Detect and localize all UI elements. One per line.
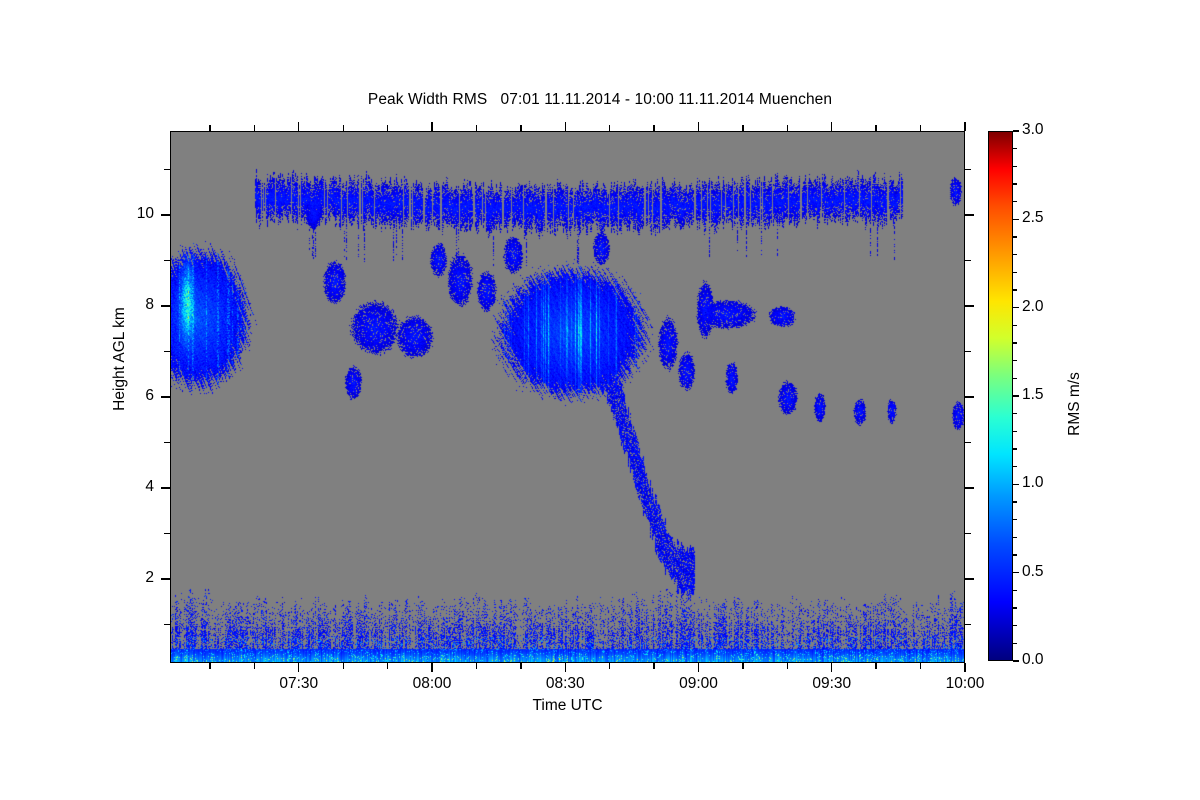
- x-tick-label: 08:00: [382, 675, 482, 693]
- y-axis-tick: [164, 351, 170, 352]
- x-axis-tick: [565, 122, 566, 131]
- x-axis-tick: [209, 663, 210, 669]
- x-axis-tick: [387, 663, 388, 669]
- x-axis-tick: [609, 663, 610, 669]
- y-axis-tick: [161, 305, 170, 306]
- x-axis-tick: [875, 663, 876, 669]
- x-axis-tick: [298, 663, 299, 672]
- y-axis-tick: [965, 169, 971, 170]
- x-tick-label: 07:30: [249, 675, 349, 693]
- x-tick-label: 09:30: [782, 675, 882, 693]
- colorbar-minor-tick: [1013, 448, 1017, 449]
- x-axis-tick: [742, 663, 743, 669]
- x-axis-tick: [343, 663, 344, 669]
- colorbar-tick: [1013, 572, 1019, 573]
- y-axis-tick: [164, 169, 170, 170]
- heatmap-plot-area[interactable]: [170, 131, 965, 663]
- colorbar-tick: [1013, 660, 1019, 661]
- page-title: Peak Width RMS 07:01 11.11.2014 - 10:00 …: [0, 91, 1200, 109]
- x-axis-tick: [431, 122, 432, 131]
- y-axis-tick: [965, 487, 974, 488]
- y-axis-tick: [164, 442, 170, 443]
- colorbar-tick-label: 1.0: [1022, 474, 1044, 492]
- colorbar-tick-label: 2.5: [1022, 209, 1044, 227]
- colorbar-minor-tick: [1013, 607, 1017, 608]
- x-axis-tick: [653, 663, 654, 669]
- y-tick-label: 2: [74, 569, 154, 587]
- y-axis-tick: [161, 214, 170, 215]
- figure-canvas: Peak Width RMS 07:01 11.11.2014 - 10:00 …: [0, 0, 1200, 800]
- colorbar-minor-tick: [1013, 183, 1017, 184]
- y-axis-tick: [965, 624, 971, 625]
- x-tick-label: 10:00: [915, 675, 1015, 693]
- colorbar[interactable]: [988, 131, 1013, 661]
- x-axis-tick: [831, 122, 832, 131]
- colorbar-minor-tick: [1013, 236, 1017, 237]
- x-axis-tick: [653, 125, 654, 131]
- colorbar-minor-tick: [1013, 537, 1017, 538]
- x-axis-tick: [209, 125, 210, 131]
- colorbar-minor-tick: [1013, 289, 1017, 290]
- colorbar-minor-tick: [1013, 643, 1017, 644]
- colorbar-minor-tick: [1013, 378, 1017, 379]
- x-axis-tick: [698, 663, 699, 672]
- x-axis-tick: [742, 125, 743, 131]
- colorbar-tick-label: 3.0: [1022, 121, 1044, 139]
- colorbar-tick: [1013, 219, 1019, 220]
- y-axis-tick: [164, 533, 170, 534]
- y-axis-tick: [164, 624, 170, 625]
- colorbar-minor-tick: [1013, 148, 1017, 149]
- x-axis-tick: [698, 122, 699, 131]
- x-axis-tick: [565, 663, 566, 672]
- colorbar-minor-tick: [1013, 431, 1017, 432]
- colorbar-minor-tick: [1013, 325, 1017, 326]
- colorbar-minor-tick: [1013, 501, 1017, 502]
- x-axis-tick: [609, 125, 610, 131]
- colorbar-tick: [1013, 130, 1019, 131]
- colorbar-minor-tick: [1013, 254, 1017, 255]
- colorbar-tick-label: 0.5: [1022, 563, 1044, 581]
- colorbar-gradient: [989, 132, 1012, 660]
- x-axis-tick: [476, 663, 477, 669]
- colorbar-minor-tick: [1013, 466, 1017, 467]
- colorbar-minor-tick: [1013, 625, 1017, 626]
- y-axis-tick: [965, 442, 971, 443]
- x-axis-tick: [298, 122, 299, 131]
- x-axis-tick: [254, 125, 255, 131]
- x-axis-tick: [787, 125, 788, 131]
- colorbar-minor-tick: [1013, 554, 1017, 555]
- y-axis-tick: [161, 396, 170, 397]
- x-axis-tick: [520, 125, 521, 131]
- colorbar-tick-label: 1.5: [1022, 386, 1044, 404]
- x-axis-tick: [431, 663, 432, 672]
- y-tick-label: 10: [74, 205, 154, 223]
- x-axis-tick: [476, 125, 477, 131]
- colorbar-minor-tick: [1013, 590, 1017, 591]
- x-tick-label: 08:30: [515, 675, 615, 693]
- y-axis-label: Height AGL km: [111, 229, 129, 489]
- x-tick-label: 09:00: [649, 675, 749, 693]
- x-axis-tick: [387, 125, 388, 131]
- y-axis-tick: [965, 533, 971, 534]
- colorbar-tick-label: 0.0: [1022, 651, 1044, 669]
- y-axis-tick: [965, 396, 974, 397]
- x-axis-tick: [254, 663, 255, 669]
- colorbar-label: RMS m/s: [1066, 314, 1084, 494]
- y-axis-tick: [965, 351, 971, 352]
- colorbar-minor-tick: [1013, 342, 1017, 343]
- colorbar-minor-tick: [1013, 413, 1017, 414]
- x-axis-label: Time UTC: [170, 697, 965, 715]
- colorbar-tick-label: 2.0: [1022, 298, 1044, 316]
- x-axis-tick: [520, 663, 521, 669]
- y-axis-tick: [161, 578, 170, 579]
- x-axis-tick: [964, 122, 965, 131]
- y-axis-tick: [965, 578, 974, 579]
- colorbar-minor-tick: [1013, 166, 1017, 167]
- colorbar-tick: [1013, 307, 1019, 308]
- x-axis-tick: [343, 125, 344, 131]
- y-axis-tick: [161, 487, 170, 488]
- colorbar-minor-tick: [1013, 201, 1017, 202]
- y-axis-tick: [965, 260, 971, 261]
- y-axis-tick: [164, 260, 170, 261]
- x-axis-tick: [787, 663, 788, 669]
- x-axis-tick: [964, 663, 965, 672]
- y-axis-tick: [965, 305, 974, 306]
- colorbar-tick: [1013, 395, 1019, 396]
- colorbar-minor-tick: [1013, 272, 1017, 273]
- x-axis-tick: [920, 125, 921, 131]
- colorbar-tick: [1013, 484, 1019, 485]
- y-axis-tick: [965, 214, 974, 215]
- x-axis-tick: [831, 663, 832, 672]
- colorbar-minor-tick: [1013, 360, 1017, 361]
- x-axis-tick: [875, 125, 876, 131]
- x-axis-tick: [920, 663, 921, 669]
- heatmap-data-layer: [171, 132, 965, 663]
- colorbar-minor-tick: [1013, 519, 1017, 520]
